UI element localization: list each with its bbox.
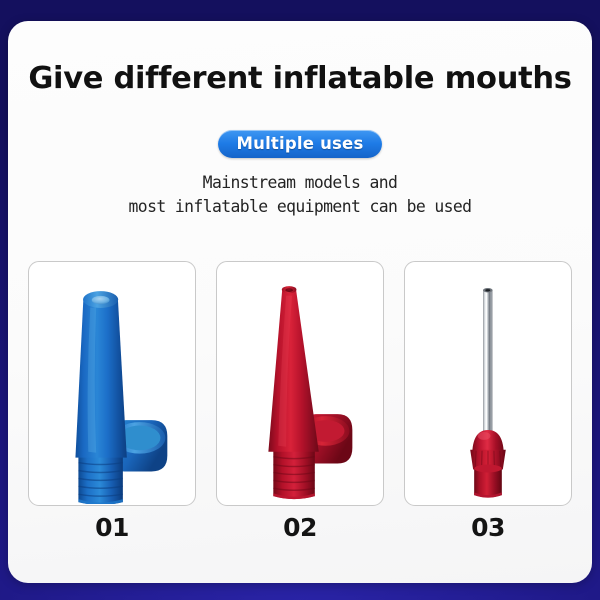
badge-row: Multiple uses: [8, 130, 592, 158]
product-panel-03[interactable]: [404, 261, 572, 506]
page-title: Give different inflatable mouths: [8, 61, 592, 96]
blue-cone-bore: [92, 296, 110, 304]
subtitle-line-1: Mainstream models and: [8, 171, 592, 195]
needle-shaft: [483, 290, 492, 443]
subtitle-line-2: most inflatable equipment can be used: [8, 195, 592, 219]
caption-row: 01 02 03: [28, 513, 572, 542]
blue-cone-nozzle-icon: [29, 262, 195, 504]
caption-01: 01: [28, 513, 196, 542]
status-badge: Multiple uses: [218, 130, 383, 158]
caption-02: 02: [216, 513, 384, 542]
needle-barrel-top: [474, 465, 502, 473]
needle-dome-gloss: [478, 432, 491, 440]
needle-bore: [485, 289, 490, 291]
subtitle: Mainstream models and most inflatable eq…: [8, 171, 592, 219]
needle-highlight: [486, 293, 488, 441]
product-panel-02[interactable]: [216, 261, 384, 506]
red-cone-bore: [285, 288, 293, 292]
product-panel-row: [28, 261, 572, 506]
needle-nozzle-icon: [405, 262, 571, 504]
product-panel-01[interactable]: [28, 261, 196, 506]
blue-cone-body: [75, 300, 126, 458]
product-feature-card: Give different inflatable mouths Multipl…: [8, 21, 592, 583]
caption-03: 03: [404, 513, 572, 542]
red-cone-nozzle-icon: [217, 262, 383, 504]
red-cone-body: [268, 290, 318, 452]
poster-background: Give different inflatable mouths Multipl…: [0, 0, 600, 600]
